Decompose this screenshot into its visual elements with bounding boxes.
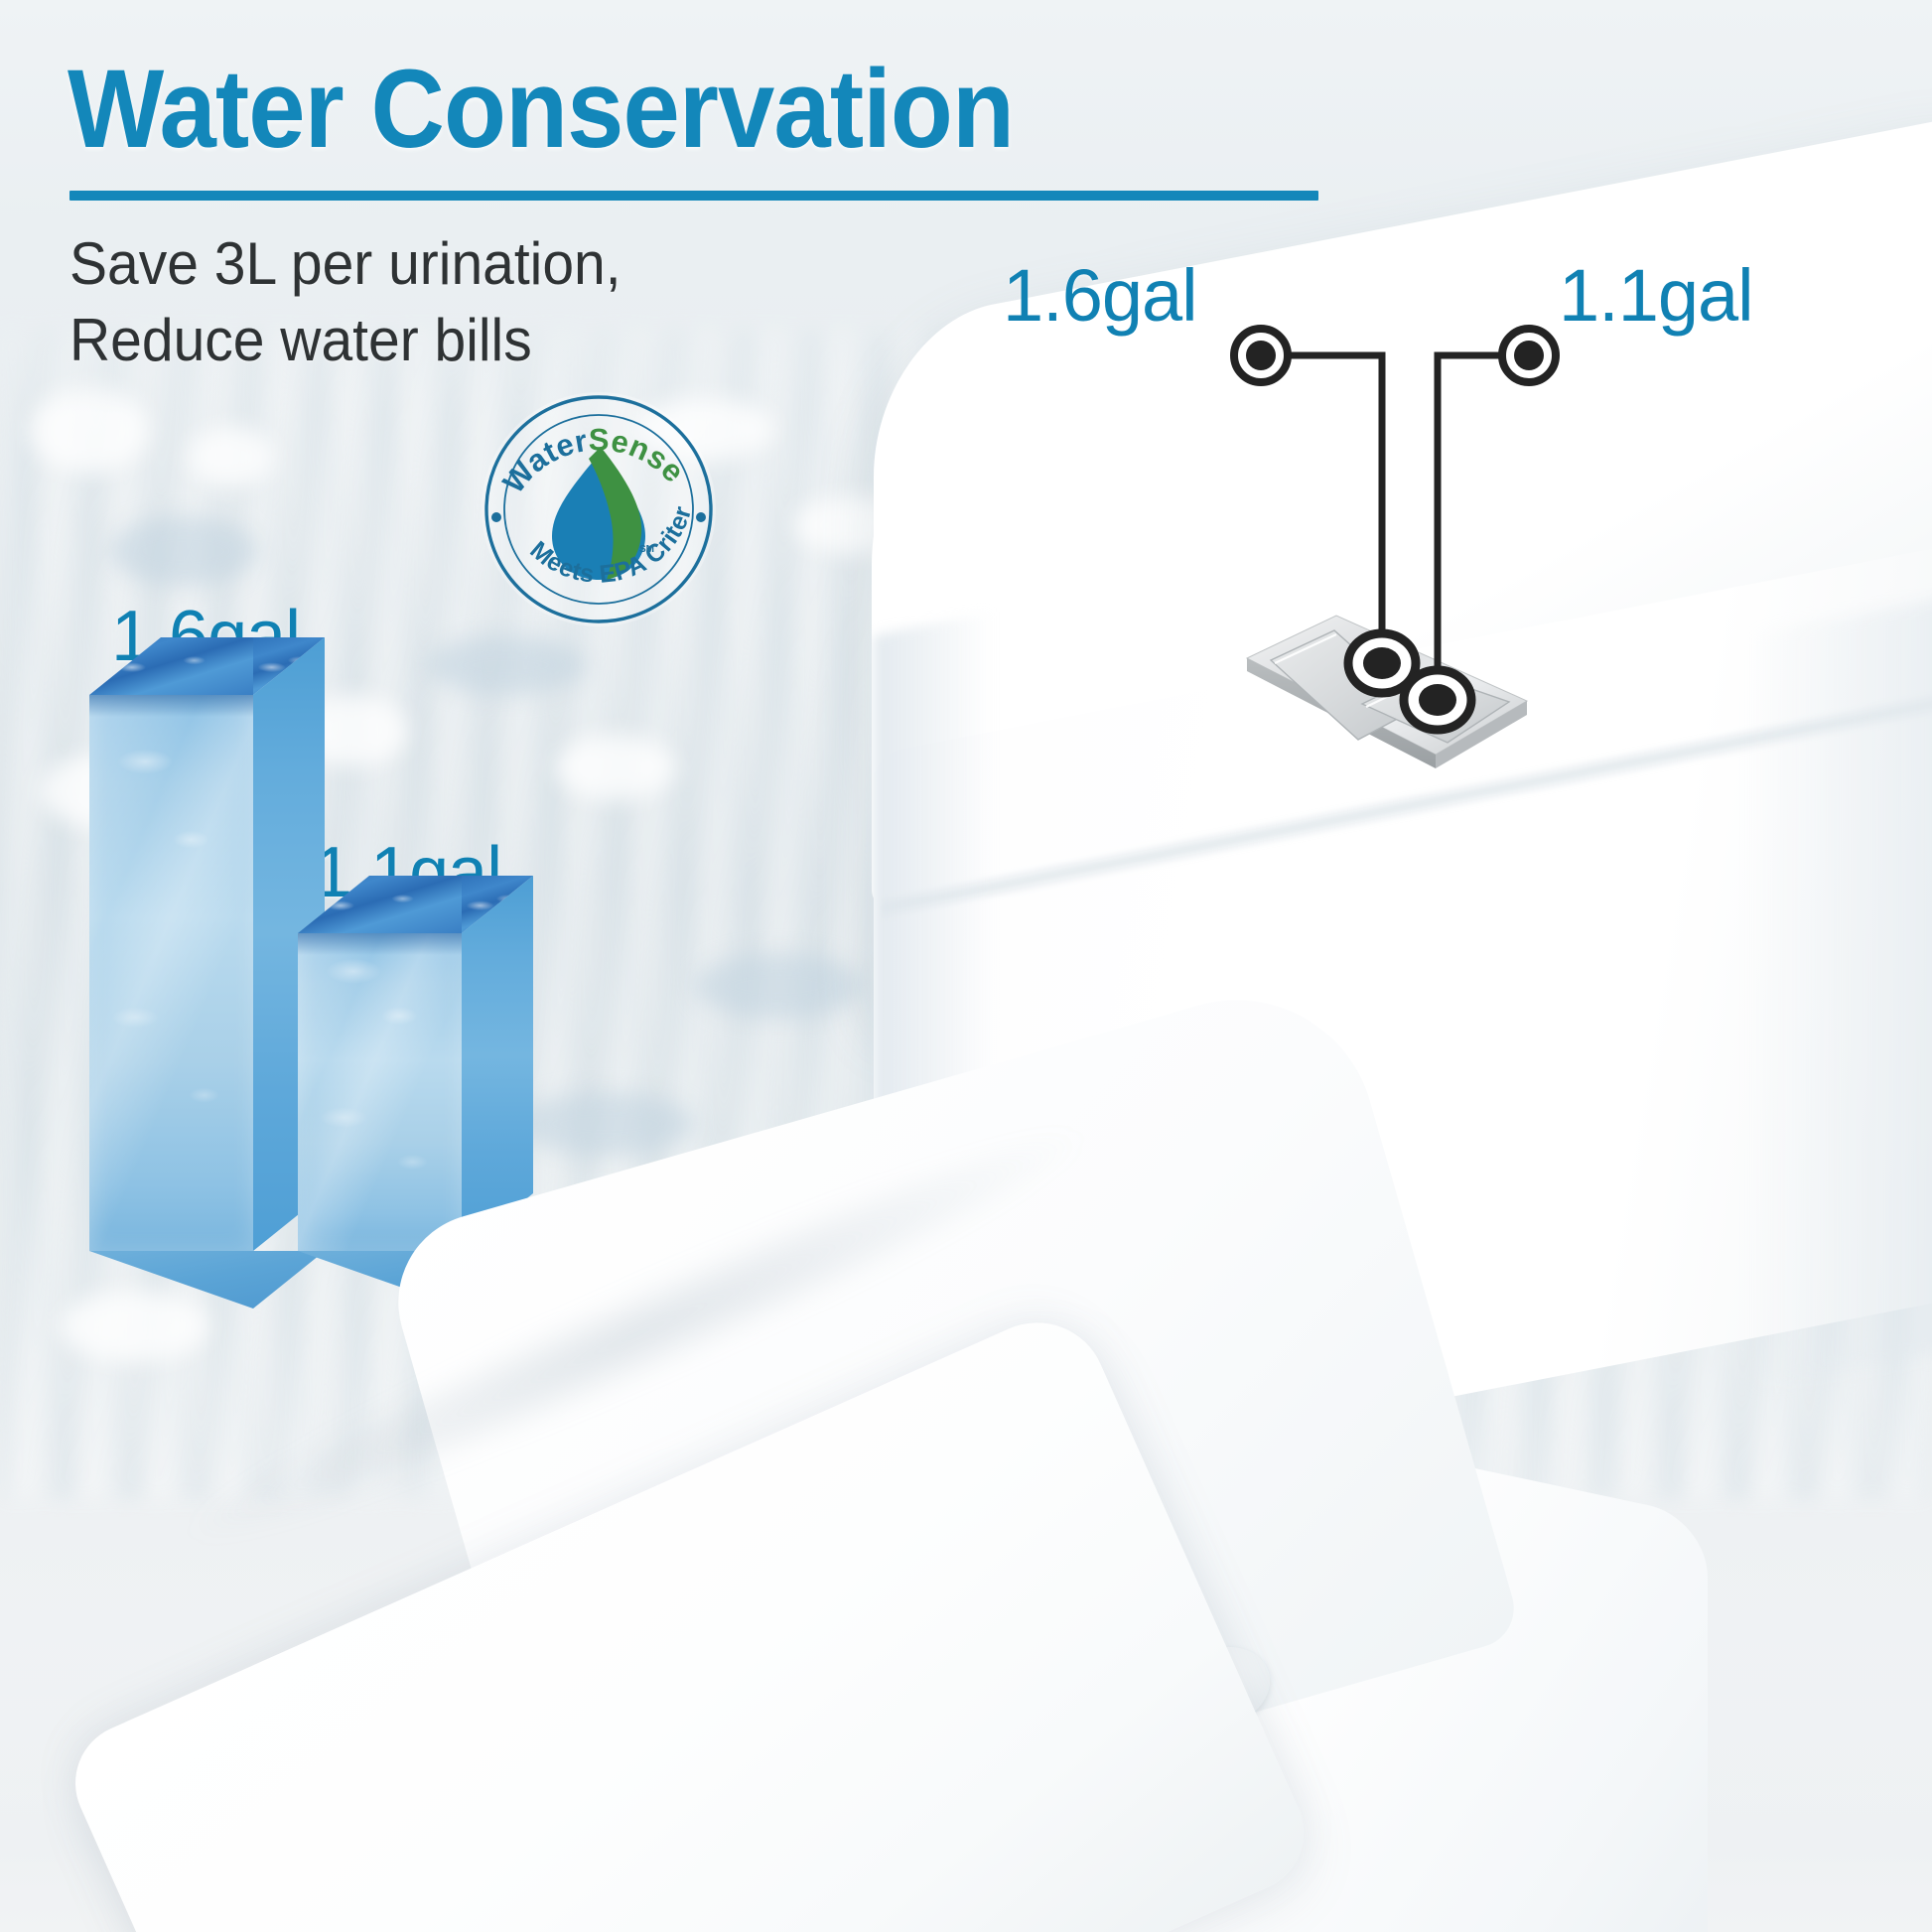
bokeh-highlight <box>60 1291 208 1362</box>
bar-half-flush <box>298 933 462 1251</box>
bokeh-highlight <box>516 1092 695 1156</box>
bokeh-highlight <box>427 635 586 695</box>
bokeh-highlight <box>695 953 864 1019</box>
bokeh-highlight <box>189 427 274 486</box>
bokeh-highlight <box>109 516 258 586</box>
subtitle-line-2: Reduce water bills <box>69 303 918 379</box>
subtitle-line-1: Save 3L per urination, <box>69 226 918 303</box>
bar-top-shade <box>89 695 253 717</box>
watersense-badge: SM Water Sense Meets EPA Criteria <box>475 385 723 633</box>
bar-top-shade <box>298 933 462 955</box>
bokeh-highlight <box>556 735 675 800</box>
title-divider <box>69 191 1318 201</box>
page-subtitle: Save 3L per urination, Reduce water bill… <box>69 226 918 379</box>
bar-side-face <box>462 876 533 1251</box>
bar-front-face <box>89 695 253 1251</box>
bar-full-flush <box>89 695 253 1251</box>
infographic-canvas: Water Conservation Save 3L per urination… <box>0 0 1932 1932</box>
callout-label-half-flush: 1.1gal <box>1559 253 1753 338</box>
page-title: Water Conservation <box>68 52 1014 167</box>
bar-front-face <box>298 933 462 1251</box>
callout-label-full-flush: 1.6gal <box>1003 253 1197 338</box>
tank-right-shading <box>1747 582 1932 1390</box>
dual-flush-button-plate[interactable] <box>1239 604 1537 782</box>
